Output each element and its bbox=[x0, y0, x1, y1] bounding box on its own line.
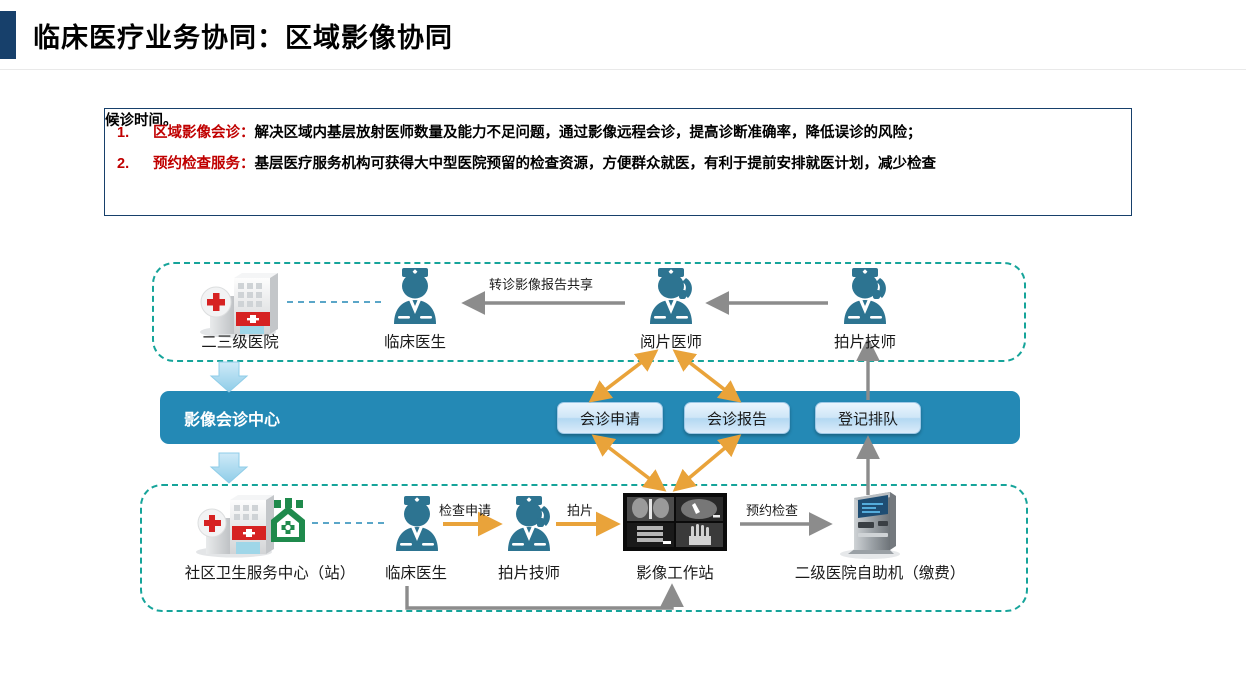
label-tertiary-hospital: 二三级医院 bbox=[176, 330, 304, 352]
page-title: 临床医疗业务协同：区域影像协同 bbox=[33, 16, 453, 55]
center-bar-label: 影像会诊中心 bbox=[184, 406, 280, 430]
pill-registration-queue[interactable]: 登记排队 bbox=[815, 402, 921, 434]
callout-item-2-highlight: 预约检查服务： bbox=[153, 156, 255, 172]
down-arrow-top bbox=[211, 362, 247, 392]
callout-item-1-text: 解决区域内基层放射医师数量及能力不足问题，通过影像远程会诊，提高诊断准确率，降低… bbox=[255, 125, 922, 141]
callout-item-1: 1. 区域影像会诊：解决区域内基层放射医师数量及能力不足问题，通过影像远程会诊，… bbox=[117, 123, 1121, 144]
callout-item-2-number: 2. bbox=[117, 154, 147, 175]
callout-item-1-number: 1. bbox=[117, 123, 147, 144]
label-clinical-doctor-top: 临床医生 bbox=[360, 330, 470, 352]
pill-consultation-request[interactable]: 会诊申请 bbox=[557, 402, 663, 434]
pill-consultation-report[interactable]: 会诊报告 bbox=[684, 402, 790, 434]
summary-callout-box: 1. 区域影像会诊：解决区域内基层放射医师数量及能力不足问题，通过影像远程会诊，… bbox=[104, 108, 1132, 216]
callout-item-2-body: 预约检查服务：基层医疗服务机构可获得大中型医院预留的检查资源，方便群众就医，有利… bbox=[153, 154, 1121, 175]
label-imaging-technician-bottom: 拍片技师 bbox=[474, 561, 584, 583]
arrow-report-to-workstation bbox=[676, 437, 738, 489]
label-referral-image-report-sharing: 转诊影像报告共享 bbox=[489, 274, 593, 293]
label-community-clinic: 社区卫生服务中心（站） bbox=[172, 561, 368, 583]
down-arrow-bottom bbox=[211, 453, 247, 483]
callout-item-2-text: 基层医疗服务机构可获得大中型医院预留的检查资源，方便群众就医，有利于提前安排就医… bbox=[255, 156, 937, 172]
header-accent-bar bbox=[0, 11, 16, 59]
label-reading-physician: 阅片医师 bbox=[616, 330, 726, 352]
label-imaging-technician-top: 拍片技师 bbox=[810, 330, 920, 352]
label-appointment-exam: 预约检查 bbox=[746, 500, 798, 519]
header-divider bbox=[0, 69, 1246, 70]
arrow-request-to-workstation bbox=[595, 437, 663, 489]
label-exam-request: 检查申请 bbox=[439, 500, 491, 519]
page-header: 临床医疗业务协同：区域影像协同 bbox=[0, 0, 1246, 70]
callout-item-1-body: 区域影像会诊：解决区域内基层放射医师数量及能力不足问题，通过影像远程会诊，提高诊… bbox=[153, 123, 1121, 144]
callout-item-1-highlight: 区域影像会诊： bbox=[153, 125, 255, 141]
label-clinical-doctor-bottom: 临床医生 bbox=[361, 561, 471, 583]
label-take-image: 拍片 bbox=[567, 500, 593, 519]
label-secondary-hospital-kiosk: 二级医院自助机（缴费） bbox=[778, 561, 982, 583]
label-imaging-workstation: 影像工作站 bbox=[620, 561, 730, 583]
callout-item-2: 2. 预约检查服务：基层医疗服务机构可获得大中型医院预留的检查资源，方便群众就医… bbox=[117, 154, 1121, 175]
